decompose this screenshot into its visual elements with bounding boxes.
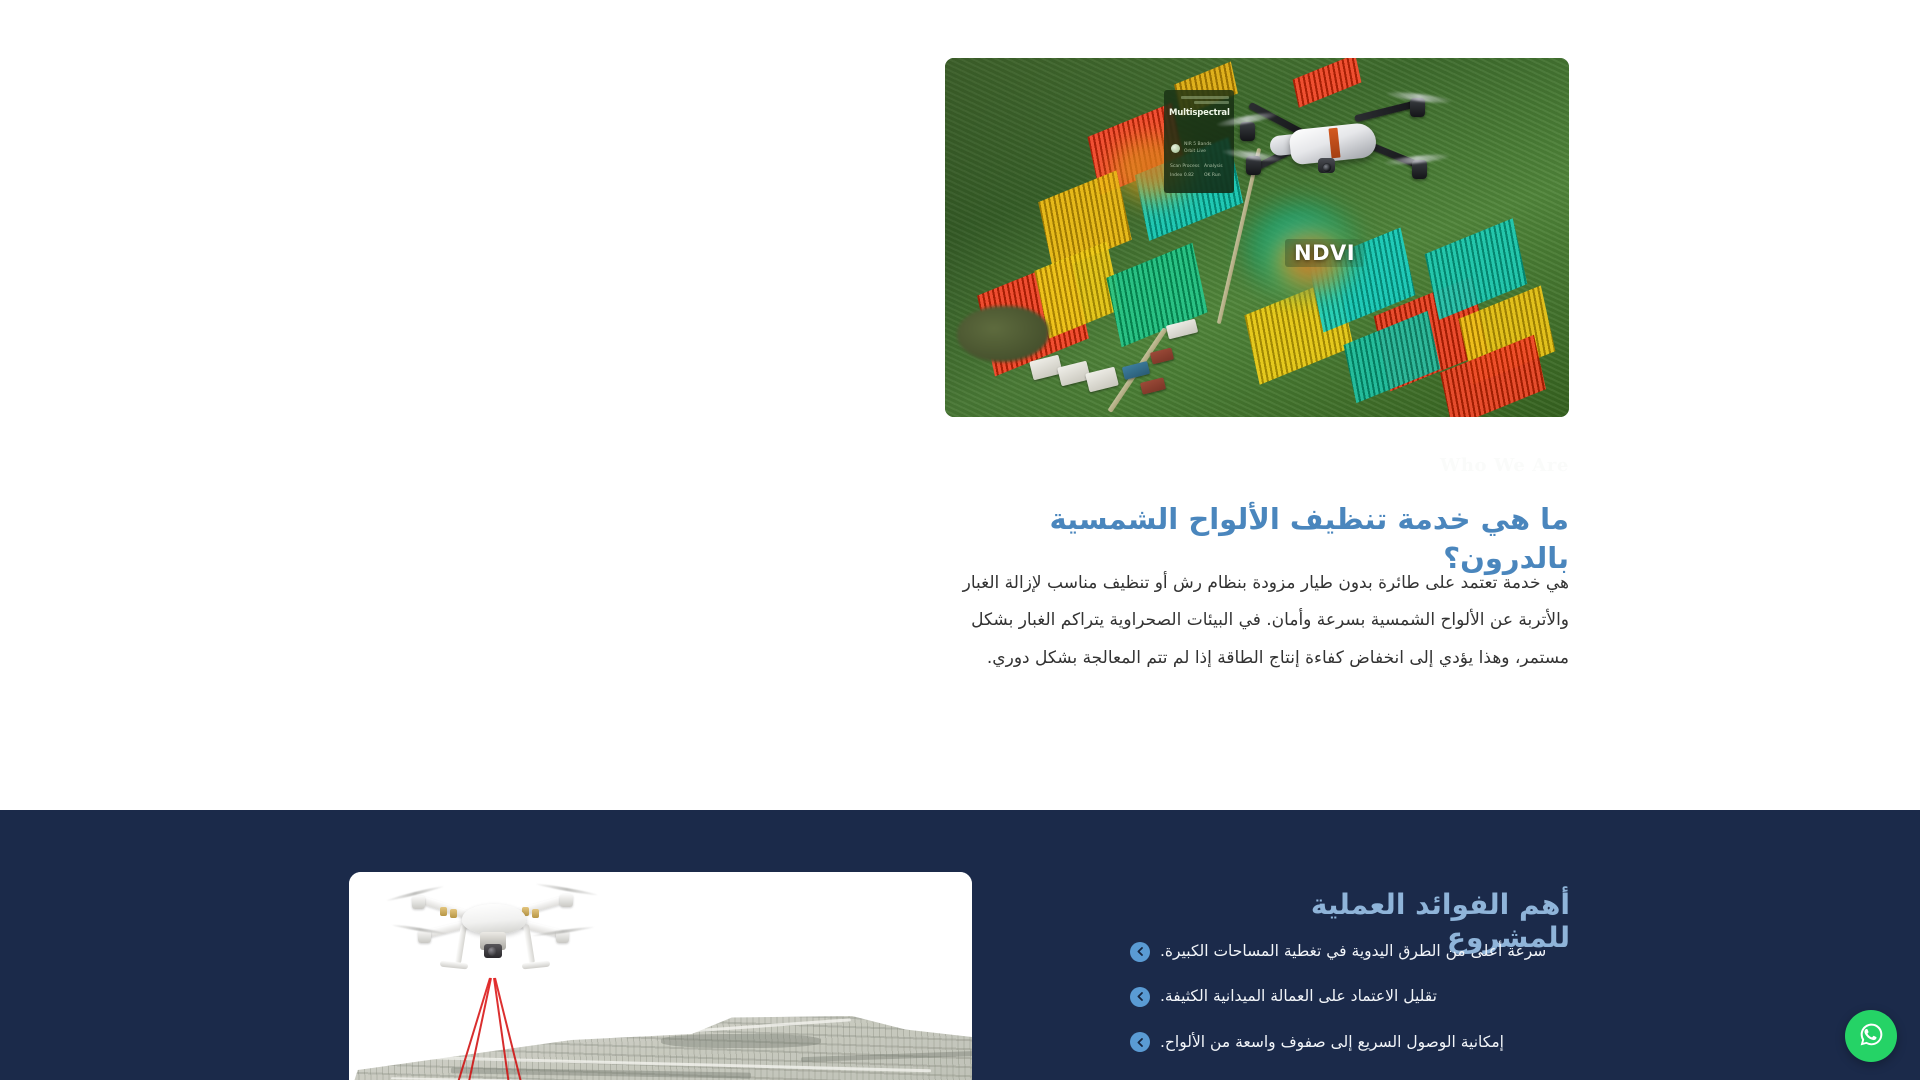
drone-landing-foot <box>522 961 550 970</box>
drone-motor <box>1240 122 1255 141</box>
drone-body <box>462 904 526 934</box>
hero-drone-graphic <box>1234 94 1439 204</box>
drone-arm-marking <box>450 909 457 918</box>
drone-landing-foot <box>440 961 468 970</box>
drone-arm-marking <box>532 909 539 918</box>
panel-readout: Index 0.82 <box>1170 173 1194 178</box>
survey-drone-image-card <box>349 872 972 1080</box>
multispectral-info-panel: Multispectral NIR 5 Bands Orbit Live Sca… <box>1164 90 1234 193</box>
drone-motor <box>412 896 425 909</box>
list-item[interactable]: إمكانية الوصول السريع إلى صفوف واسعة من … <box>1130 1031 1570 1054</box>
list-item[interactable]: سرعة أعلى من الطرق اليدوية في تغطية المس… <box>1130 940 1570 963</box>
terrain-feature <box>451 1067 751 1078</box>
drone-camera-lens-icon <box>488 947 497 956</box>
section-eyebrow-text: Who We Are <box>1440 455 1569 476</box>
terrain-feature <box>661 1034 821 1048</box>
list-item[interactable]: تقليل الاعتماد على العمالة الميدانية الك… <box>1130 985 1570 1008</box>
panel-readout: Analysis <box>1204 164 1223 169</box>
panel-readout: OK Run <box>1204 173 1221 178</box>
drone-arm <box>1354 101 1416 123</box>
drone-arm-marking <box>440 907 447 916</box>
hero-image-container: Multispectral NIR 5 Bands Orbit Live Sca… <box>945 58 1569 417</box>
panel-readout: Scan Process <box>1170 164 1199 169</box>
intro-paragraph: هي خدمة تعتمد على طائرة بدون طيار مزودة … <box>945 565 1569 677</box>
section-eyebrow: Who We Are <box>945 455 1569 476</box>
panel-placeholder-row <box>1194 101 1229 104</box>
panel-readout: NIR 5 Bands <box>1184 142 1211 147</box>
intro-section: Multispectral NIR 5 Bands Orbit Live Sca… <box>0 0 1920 810</box>
benefits-list: سرعة أعلى من الطرق اليدوية في تغطية المس… <box>1130 940 1570 1076</box>
chevron-left-circle-icon <box>1130 987 1150 1007</box>
drone-motor <box>560 894 573 907</box>
list-item-label: سرعة أعلى من الطرق اليدوية في تغطية المس… <box>1160 940 1546 963</box>
ndvi-aerial-farmland-image: Multispectral NIR 5 Bands Orbit Live Sca… <box>945 58 1569 417</box>
list-item-label: إمكانية الوصول السريع إلى صفوف واسعة من … <box>1160 1031 1504 1054</box>
chevron-left-circle-icon <box>1130 942 1150 962</box>
drone-camera-lens-icon <box>1322 163 1332 173</box>
ndvi-label: NDVI <box>1285 239 1364 267</box>
panel-indicator-dot <box>1171 144 1180 153</box>
panel-placeholder-row <box>1181 96 1229 99</box>
benefits-section: أهم الفوائد العملية للمشروع سرعة أعلى من… <box>0 810 1920 1080</box>
list-item-label: تقليل الاعتماد على العمالة الميدانية الك… <box>1160 985 1437 1008</box>
terrain-feature <box>801 1051 972 1062</box>
whatsapp-icon <box>1856 1019 1887 1053</box>
whatsapp-chat-button[interactable] <box>1845 1010 1897 1062</box>
survey-drone-graphic <box>404 880 584 992</box>
multispectral-panel-title: Multispectral <box>1169 108 1229 118</box>
chevron-left-circle-icon <box>1130 1032 1150 1052</box>
panel-readout: Orbit Live <box>1184 149 1206 154</box>
